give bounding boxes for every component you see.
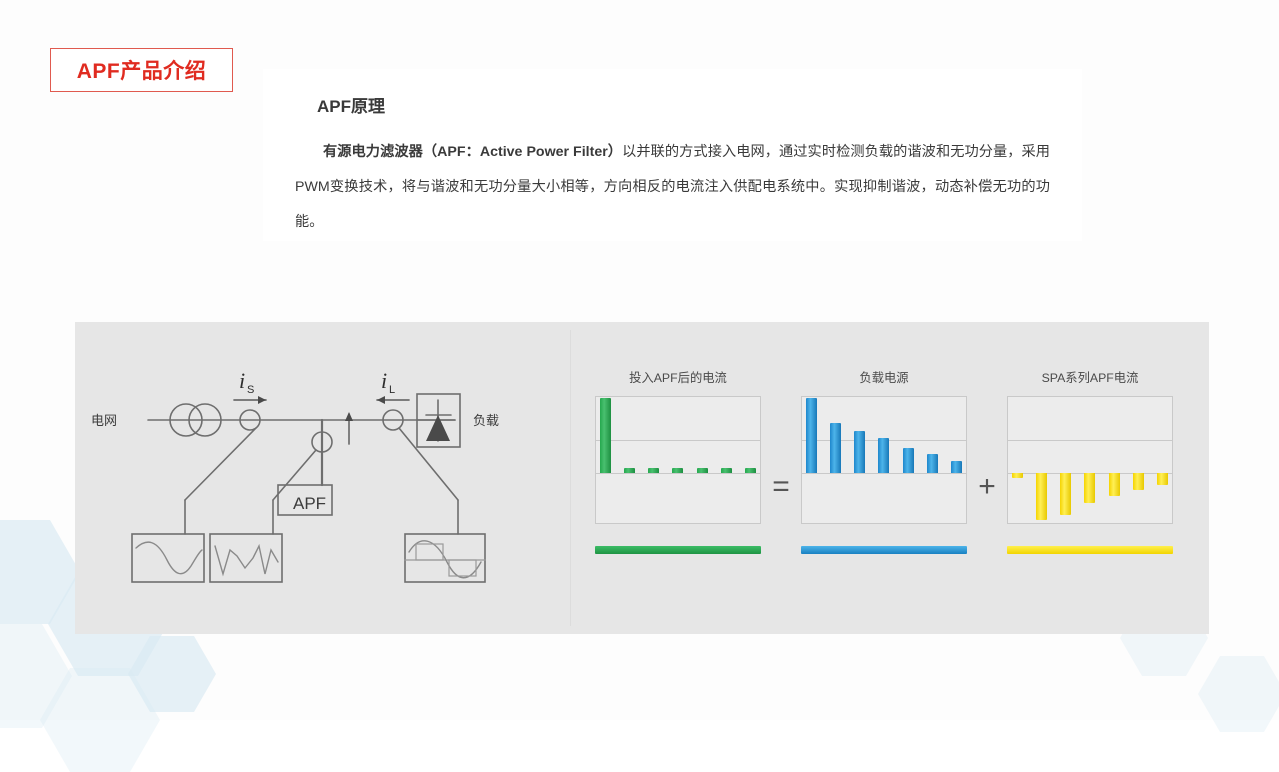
card-body-lead: 有源电力滤波器（APF：Active Power Filter） [323,144,622,160]
bar [878,438,889,473]
ct-source-lead [185,428,256,500]
load-sine-waveform [409,541,481,578]
bar [1133,473,1144,490]
gridline-zero [596,473,760,474]
plus-operator: + [967,472,1007,502]
bar [927,454,938,473]
bar [903,448,914,473]
apf-box-label: APF [293,494,326,513]
bar [624,468,635,473]
arrow-apf-head [345,412,353,421]
bar [854,431,865,473]
bar [806,398,817,473]
gridline-zero [802,473,966,474]
thyristor-triangle [426,415,450,441]
bar [1157,473,1168,485]
chart-row: 投入APF后的电流 = [595,368,1209,554]
chart-after-apf: 投入APF后的电流 [595,368,761,554]
bar [1109,473,1120,496]
section-title-chip: APF产品介绍 [50,48,233,92]
chart-baseline-bar [1007,546,1173,554]
load-label: 负载 [473,413,499,428]
chart-plot-area [1007,396,1173,524]
waveform-box-distorted [210,534,282,582]
arrow-il-head [377,396,385,404]
card-heading: APF原理 [317,92,1058,117]
bar [1084,473,1095,503]
bar-series [600,397,756,473]
circuit-diagram: 电网 负载 APF i S i L [75,322,570,634]
chart-title: 负载电源 [801,368,967,386]
chart-group: 投入APF后的电流 = [595,322,1209,634]
card-body: 有源电力滤波器（APF：Active Power Filter）以并联的方式接入… [295,135,1050,239]
chart-apf-current: SPA系列APF电流 [1007,368,1173,554]
panel-divider [570,330,571,626]
bar [648,468,659,473]
bar [600,398,611,473]
grid-label: 电网 [91,413,117,428]
chart-baseline-bar [801,546,967,554]
current-source-label: i [239,368,245,393]
gridline [1008,440,1172,441]
bar [672,468,683,473]
chart-baseline-bar [595,546,761,554]
hex-decoration [1198,656,1279,732]
section-title-text: APF产品介绍 [77,55,207,85]
bar [697,468,708,473]
bar [1060,473,1071,515]
bar [830,423,841,473]
bar [1012,473,1023,478]
chart-plot-area [801,396,967,524]
bar [951,461,962,473]
sine-waveform [136,542,202,574]
chart-plot-area [595,396,761,524]
principle-text-card: APF原理 有源电力滤波器（APF：Active Power Filter）以并… [263,69,1082,241]
bar [1036,473,1047,520]
equals-operator: = [761,472,801,502]
hex-decoration [40,668,160,772]
diagram-panel: 电网 负载 APF i S i L 投入APF后的电流 [75,322,1209,634]
distorted-waveform [215,546,278,574]
ct-apf-lead [273,450,316,500]
current-load-sub: L [389,384,395,396]
hex-decoration [128,636,216,712]
arrow-is-head [258,396,266,404]
chart-title: 投入APF后的电流 [595,368,761,386]
chart-load-source: 负载电源 [801,368,967,554]
bar [721,468,732,473]
hex-decoration [0,520,80,624]
chart-title: SPA系列APF电流 [1007,368,1173,386]
waveform-box-sine [132,534,204,582]
bar-series [1012,473,1168,523]
bar [745,468,756,473]
bar-series [806,397,962,473]
current-load-label: i [381,368,387,393]
hex-decoration [0,624,72,728]
current-source-sub: S [247,384,254,396]
load-square-upper [416,544,443,560]
